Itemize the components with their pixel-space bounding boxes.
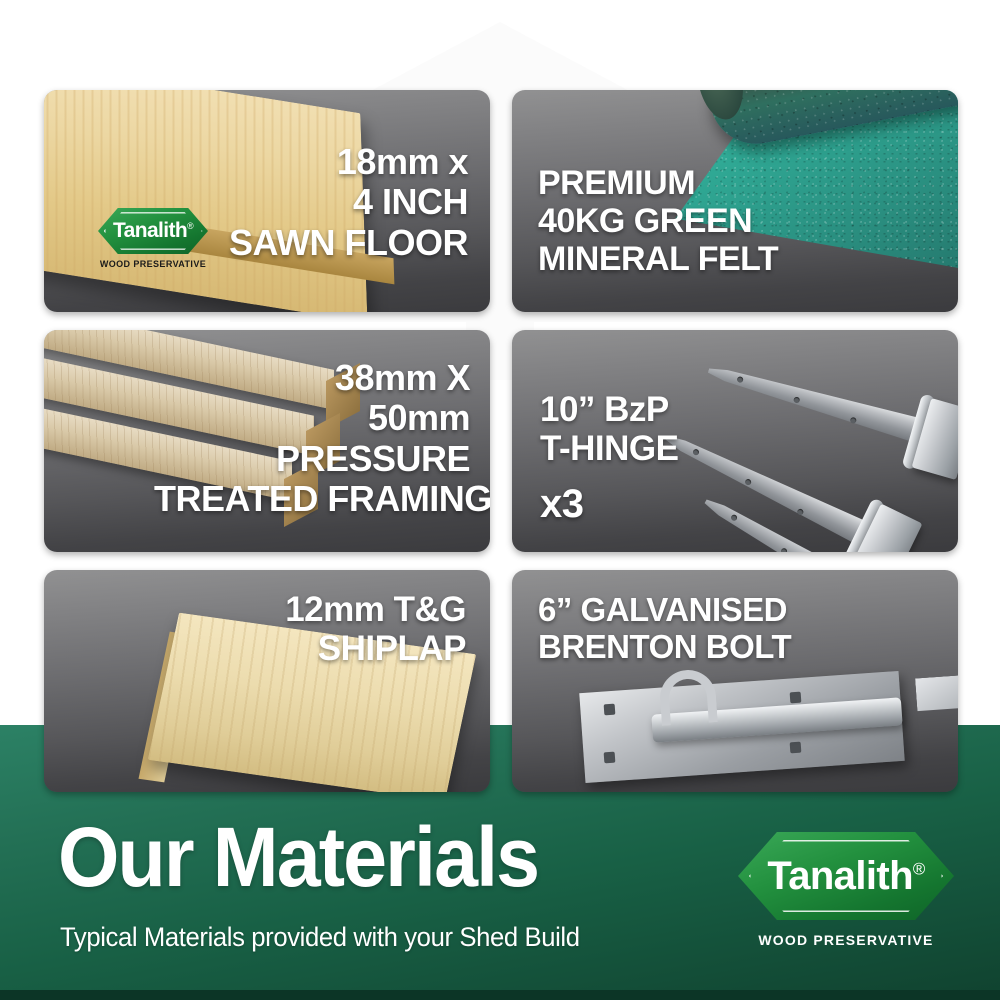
tanalith-logo-footer: Tanalith® WOOD PRESERVATIVE [738,832,954,948]
caption-line-2: 40KG GREEN [538,202,778,240]
tanalith-logo-badge: Tanalith® WOOD PRESERVATIVE [98,208,208,269]
caption-line-2: 4 INCH [229,182,468,222]
caption-line-4: TREATED FRAMING [154,479,484,519]
caption-quantity: x3 [540,482,678,527]
material-card-brenton-bolt[interactable]: 6” GALVANISED BRENTON BOLT [512,570,958,792]
bolt-screw-hole [604,752,616,764]
tanalith-subtitle: WOOD PRESERVATIVE [738,932,954,948]
tanalith-subtitle: WOOD PRESERVATIVE [98,259,208,269]
tanalith-wordmark: Tanalith® [113,219,193,243]
materials-card-grid: Tanalith® WOOD PRESERVATIVE 18mm x 4 INC… [0,0,1000,800]
tanalith-wordmark: Tanalith® [767,854,924,899]
caption-line-2: T-HINGE [540,429,678,468]
tanalith-hexagon-icon: Tanalith® [98,208,208,254]
card-caption-brenton-bolt: 6” GALVANISED BRENTON BOLT [538,592,791,666]
material-card-t-hinge[interactable]: 10” BzP T-HINGE x3 [512,330,958,552]
material-card-sawn-floor[interactable]: Tanalith® WOOD PRESERVATIVE 18mm x 4 INC… [44,90,490,312]
registered-mark: ® [913,859,925,878]
page-subtitle: Typical Materials provided with your She… [60,922,580,953]
caption-line-1: 18mm x [229,142,468,182]
card-caption-framing: 38mm X 50mm PRESSURE TREATED FRAMING [140,358,470,519]
caption-line-2: BRENTON BOLT [538,629,791,666]
bolt-keeper-shape [915,674,958,765]
caption-line-1: PREMIUM [538,164,778,202]
card-caption-t-hinge: 10” BzP T-HINGE x3 [540,390,678,527]
bolt-handle-shape [658,668,718,726]
bolt-screw-hole [790,742,802,754]
material-card-shiplap[interactable]: Tanalith® WOOD PRESERVATIVE 12mm T&G SHI… [44,570,490,792]
bolt-screw-hole [790,692,802,704]
caption-line-3: PRESSURE [140,439,470,479]
caption-line-3: SAWN FLOOR [229,223,468,263]
card-caption-shiplap: 12mm T&G SHIPLAP [285,590,466,668]
caption-line-3: MINERAL FELT [538,240,778,278]
bolt-screw-hole [604,704,616,716]
hinge-strap [705,358,933,446]
caption-line-1: 38mm X [140,358,470,398]
registered-mark: ® [187,221,193,231]
caption-line-1: 12mm T&G [285,590,466,629]
material-card-framing[interactable]: Tanalith® WOOD PRESERVATIVE 38mm X 50mm … [44,330,490,552]
card-caption-mineral-felt: PREMIUM 40KG GREEN MINERAL FELT [538,164,778,278]
card-caption-sawn-floor: 18mm x 4 INCH SAWN FLOOR [229,142,468,263]
tanalith-hexagon-icon: Tanalith® [738,832,954,920]
caption-line-1: 10” BzP [540,390,678,429]
page-title: Our Materials [58,818,538,898]
caption-line-2: 50mm [140,398,470,438]
caption-line-1: 6” GALVANISED [538,592,791,629]
material-card-mineral-felt[interactable]: PREMIUM 40KG GREEN MINERAL FELT [512,90,958,312]
caption-line-2: SHIPLAP [285,629,466,668]
